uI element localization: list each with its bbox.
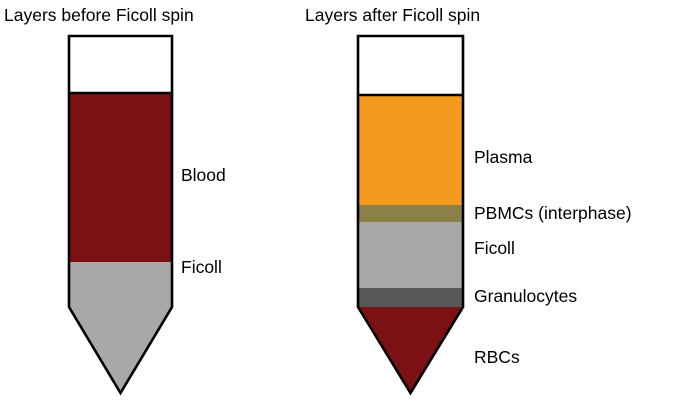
label-after-rbcs: RBCs bbox=[474, 347, 520, 367]
layer-after-ficoll bbox=[358, 222, 463, 288]
layer-before-ficoll bbox=[69, 262, 172, 393]
panel-after-title: Layers after Ficoll spin bbox=[305, 5, 480, 25]
layer-after-plasma bbox=[358, 95, 463, 205]
label-after-granulocytes: Granulocytes bbox=[474, 286, 577, 306]
label-after-ficoll: Ficoll bbox=[474, 238, 515, 258]
panel-before: Layers before Ficoll spin Blood Ficoll bbox=[4, 5, 226, 393]
ficoll-gradient-diagram: Layers before Ficoll spin Blood Ficoll L… bbox=[0, 0, 675, 401]
layer-before-air bbox=[69, 36, 172, 93]
panel-after: Layers after Ficoll spin Plasma PBMCs (i… bbox=[305, 5, 632, 393]
tube-after-layers bbox=[358, 36, 463, 393]
label-before-ficoll: Ficoll bbox=[181, 257, 222, 277]
layer-after-air bbox=[358, 36, 463, 95]
panel-before-title: Layers before Ficoll spin bbox=[4, 5, 194, 25]
layer-after-granulocytes bbox=[358, 288, 463, 307]
layer-before-blood bbox=[69, 93, 172, 262]
layer-after-pbmcs bbox=[358, 205, 463, 222]
label-before-blood: Blood bbox=[181, 165, 226, 185]
tube-before-layers bbox=[69, 36, 172, 393]
layer-after-rbcs bbox=[358, 307, 463, 393]
label-after-plasma: Plasma bbox=[474, 147, 533, 167]
label-after-pbmcs: PBMCs (interphase) bbox=[474, 203, 632, 223]
